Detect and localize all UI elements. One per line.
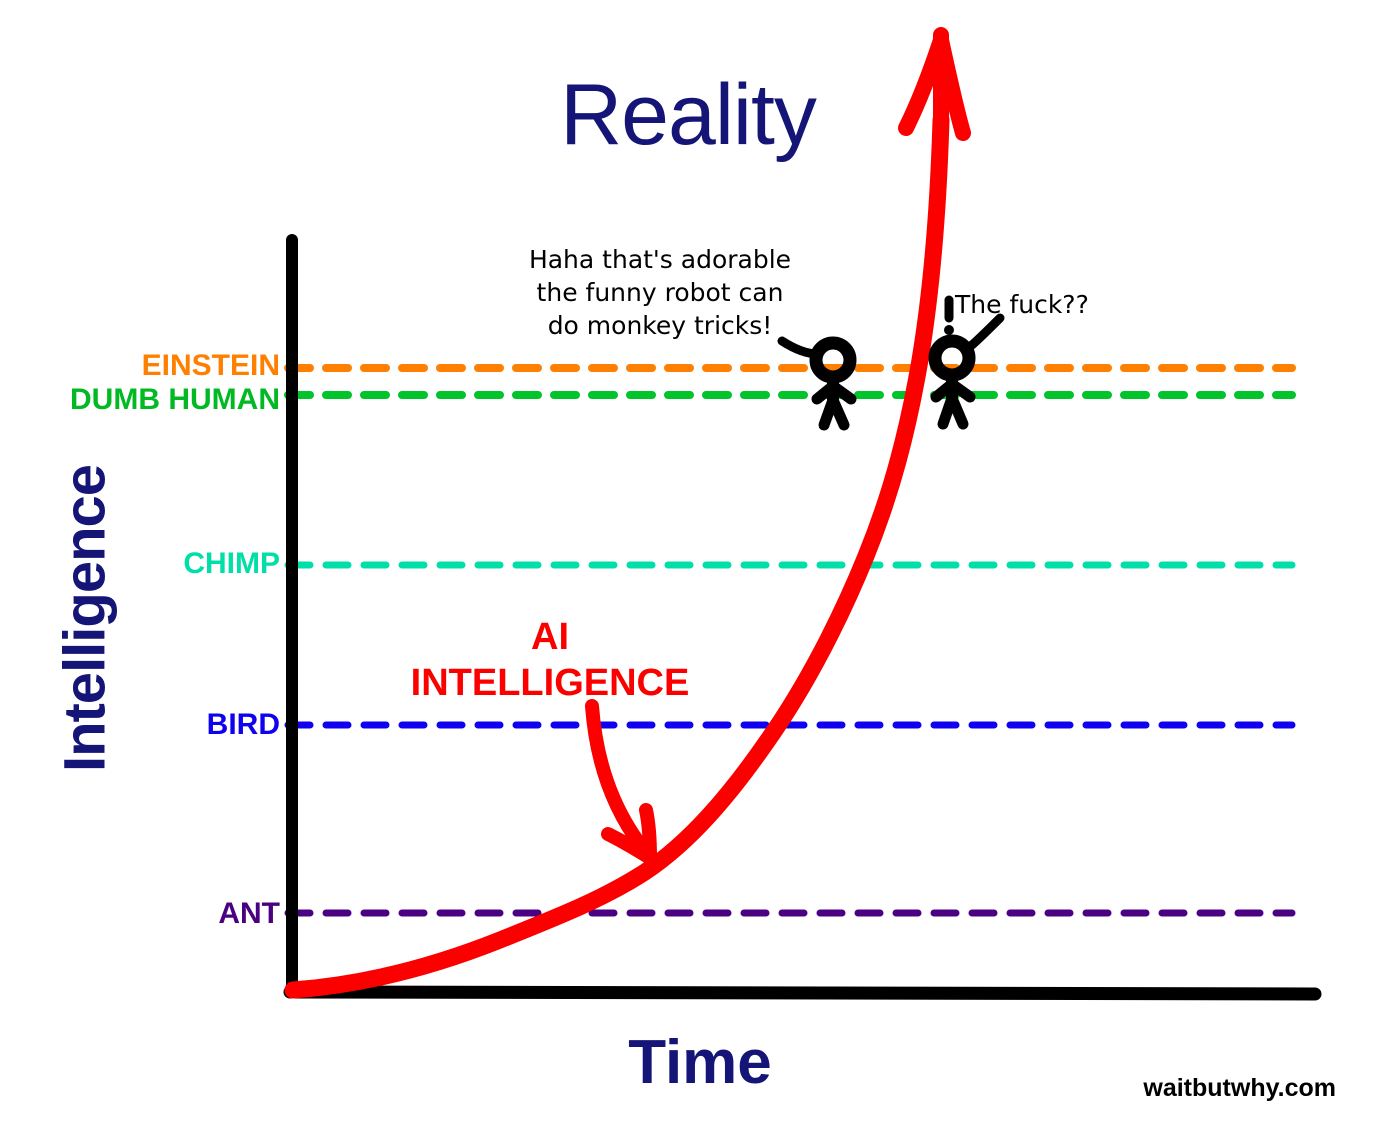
watermark: waitbutwhy.com bbox=[1016, 1076, 1336, 1101]
ai-pointer-head-2 bbox=[646, 810, 650, 858]
stick-figure-right-exclamation-dot bbox=[944, 325, 954, 335]
stick-figure-left bbox=[782, 341, 851, 425]
curve-label: AIINTELLIGENCE bbox=[370, 614, 730, 707]
gridline-label-chimp: CHIMP bbox=[0, 549, 280, 579]
stick-figure-right-leg-right bbox=[952, 398, 963, 424]
speech-bubble-right-text: The fuck?? bbox=[955, 288, 1185, 321]
stick-figure-left-speech-tail bbox=[782, 341, 818, 354]
stick-figure-right-head bbox=[935, 341, 969, 375]
curve-label-line2: INTELLIGENCE bbox=[411, 662, 690, 704]
stick-figure-left-head bbox=[816, 343, 850, 377]
ai-label-pointer bbox=[592, 706, 650, 858]
stick-figure-left-leg-right bbox=[833, 400, 844, 425]
speech-bubble-left-text: Haha that's adorable the funny robot can… bbox=[450, 243, 870, 342]
gridline-label-ant: ANT bbox=[0, 899, 280, 929]
stick-figure-right-speech-tail bbox=[972, 318, 1000, 345]
x-axis bbox=[290, 992, 1315, 994]
curve-label-line1: AI bbox=[531, 616, 569, 658]
gridline-label-einstein: EINSTEIN bbox=[0, 351, 280, 381]
chart-canvas: Reality Intelligence Time bbox=[0, 0, 1376, 1124]
gridline-label-dumb-human: DUMB HUMAN bbox=[0, 385, 280, 415]
gridline-label-bird: BIRD bbox=[0, 710, 280, 740]
